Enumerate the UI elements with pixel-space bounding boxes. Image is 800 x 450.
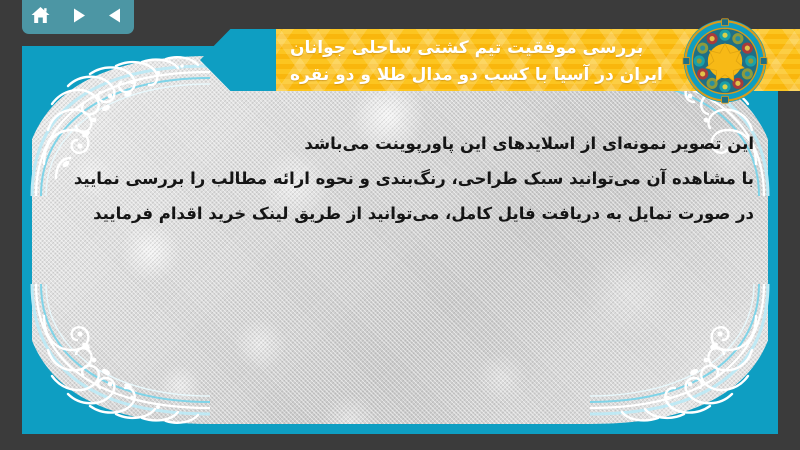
slide-stage: این تصویر نمونه‌ای از اسلایدهای این پاور… <box>0 0 800 450</box>
triangle-right-icon <box>70 7 87 28</box>
panel-texture-overlay <box>32 56 768 424</box>
title-line-1: بررسی موفقیت تیم کشتی ساحلی جوانان <box>290 35 643 62</box>
persian-medallion-icon <box>682 18 768 104</box>
banner-tail-shape <box>200 29 280 91</box>
previous-slide-button[interactable] <box>102 5 128 29</box>
title-line-2: ایران در آسیا با کسب دو مدال طلا و دو نق… <box>290 62 663 89</box>
body-line-3: در صورت تمایل به دریافت فایل کامل، می‌تو… <box>46 196 754 231</box>
body-line-1: این تصویر نمونه‌ای از اسلایدهای این پاور… <box>46 126 754 161</box>
home-button[interactable] <box>28 5 54 29</box>
slide-body-text: این تصویر نمونه‌ای از اسلایدهای این پاور… <box>32 126 768 231</box>
next-slide-button[interactable] <box>65 5 91 29</box>
triangle-left-icon <box>107 7 124 28</box>
slide-content-panel <box>32 56 768 424</box>
body-line-2: با مشاهده آن می‌توانید سبک طراحی، رنگ‌بن… <box>46 161 754 196</box>
slide-navigation-bar[interactable] <box>22 0 134 34</box>
home-icon <box>31 6 50 28</box>
slide-title-banner: بررسی موفقیت تیم کشتی ساحلی جوانان ایران… <box>200 14 800 106</box>
